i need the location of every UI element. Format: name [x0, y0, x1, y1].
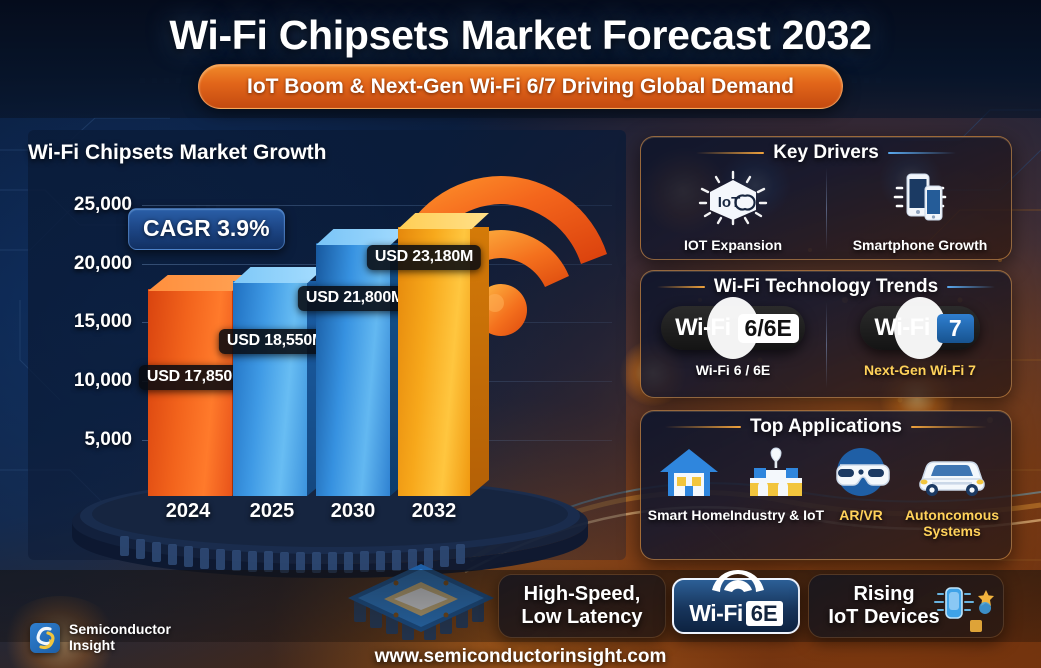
iot-device-icon — [930, 580, 1002, 636]
factory-icon — [744, 446, 808, 500]
top-app-label-3: Autoncomous Systems — [900, 507, 1004, 539]
top-applications-title: Top Applications — [750, 416, 902, 438]
chart-title: Wi-Fi Chipsets Market Growth — [28, 141, 327, 165]
svg-text:IoT: IoT — [718, 194, 741, 211]
smartphone-icon — [881, 170, 959, 226]
x-tick-2032: 2032 — [412, 500, 457, 523]
wifi-badge-name: Wi-Fi — [874, 314, 929, 342]
wifi-badge-name: Wi-Fi — [675, 314, 730, 342]
y-tick-25000: 25,000 — [74, 194, 132, 216]
top-app-industry-iot[interactable]: Industry & IoT — [730, 446, 822, 523]
wifi-6e-badge-icon: Wi-Fi6E — [672, 578, 800, 634]
header-rule-left — [696, 152, 764, 154]
top-app-smart-home[interactable]: Smart Home — [646, 446, 732, 523]
wifi-7-badge-icon: Wi-Fi 7 — [860, 306, 979, 350]
x-tick-2025: 2025 — [250, 500, 295, 523]
tech-trend-wifi7[interactable]: Wi-Fi 7 Next-Gen Wi-Fi 7 — [834, 306, 1006, 378]
subtitle-pill: IoT Boom & Next-Gen Wi-Fi 6/7 Driving Gl… — [198, 64, 843, 109]
key-driver-label-1: Smartphone Growth — [834, 237, 1006, 253]
website-url[interactable]: www.semiconductorinsight.com — [0, 646, 1041, 668]
bb-right-line1: Rising — [853, 583, 914, 605]
subtitle-text: IoT Boom & Next-Gen Wi-Fi 6/7 Driving Gl… — [247, 75, 794, 99]
top-app-autonomous-systems[interactable]: Autoncomous Systems — [900, 446, 1004, 539]
wifi-6-badge-icon: Wi-Fi 6/6E — [661, 306, 805, 350]
wifi-badge-value: 7 — [937, 314, 974, 343]
wifi-arc-glyph — [708, 566, 768, 596]
header-rule-left — [657, 286, 705, 288]
tech-trend-label-1: Next-Gen Wi-Fi 7 — [834, 362, 1006, 378]
x-tick-2024: 2024 — [166, 500, 211, 523]
key-driver-smartphone-growth[interactable]: Smartphone Growth — [834, 170, 1006, 253]
header-rule-right — [911, 426, 987, 428]
page-title: Wi-Fi Chipsets Market Forecast 2032 — [0, 12, 1041, 59]
wifi-6e-badge-text: Wi-Fi6E — [674, 600, 798, 627]
bar-front-2030 — [316, 243, 390, 496]
top-applications-header: Top Applications — [640, 416, 1012, 438]
wifi-6e-value: 6E — [746, 601, 783, 626]
key-drivers-divider — [826, 168, 827, 250]
x-tick-2030: 2030 — [331, 500, 376, 523]
tech-trend-label-0: Wi-Fi 6 / 6E — [648, 362, 818, 378]
bar-2024 — [148, 289, 232, 496]
logo-line-1: Semiconductor — [69, 622, 171, 638]
cagr-annotation-badge: CAGR 3.9% — [128, 208, 285, 250]
header-rule-right — [947, 286, 995, 288]
key-drivers-title: Key Drivers — [773, 142, 879, 164]
top-app-label-2: AR/VR — [822, 507, 900, 523]
wifi-badge-value: 6/6E — [738, 314, 799, 343]
house-icon — [658, 446, 720, 500]
bar-front-2025 — [233, 281, 307, 496]
y-tick-20000: 20,000 — [74, 253, 132, 275]
vr-headset-icon — [830, 446, 892, 500]
tech-trends-header: Wi-Fi Technology Trends — [640, 276, 1012, 298]
key-driver-label-0: IOT Expansion — [648, 237, 818, 253]
tech-trends-divider — [826, 302, 827, 388]
wifi-6e-name: Wi-Fi — [689, 600, 743, 626]
top-app-ar-vr[interactable]: AR/VR — [822, 446, 900, 523]
y-tick-10000: 10,000 — [74, 370, 132, 392]
tech-trend-wifi6[interactable]: Wi-Fi 6/6E Wi-Fi 6 / 6E — [648, 306, 818, 378]
header-rule-left — [665, 426, 741, 428]
key-driver-iot-expansion[interactable]: IoT IOT Expansion — [648, 170, 818, 253]
bb-right-line2: IoT Devices — [828, 606, 939, 628]
car-icon — [914, 446, 990, 500]
bb-left-line1: High-Speed, — [524, 583, 641, 605]
key-drivers-header: Key Drivers — [640, 142, 1012, 164]
bar-2025 — [233, 281, 307, 496]
top-app-label-0: Smart Home — [646, 507, 732, 523]
bar-label-2030: USD 21,800M — [298, 286, 412, 311]
y-tick-15000: 15,000 — [74, 311, 132, 333]
bar-label-2032: USD 23,180M — [367, 245, 481, 270]
iot-chip-icon: IoT — [696, 170, 770, 226]
infographic-root: Wi-Fi Chipsets Market Forecast 2032 IoT … — [0, 0, 1041, 668]
y-tick-5000: 5,000 — [84, 429, 132, 451]
top-app-label-1: Industry & IoT — [730, 507, 822, 523]
bb-left-line2: Low Latency — [521, 606, 642, 628]
tech-trends-title: Wi-Fi Technology Trends — [714, 276, 938, 298]
bar-front-2024 — [148, 289, 232, 496]
high-speed-low-latency-text: High-Speed, Low Latency — [498, 583, 666, 629]
bar-2030 — [316, 243, 390, 496]
header-rule-right — [888, 152, 956, 154]
